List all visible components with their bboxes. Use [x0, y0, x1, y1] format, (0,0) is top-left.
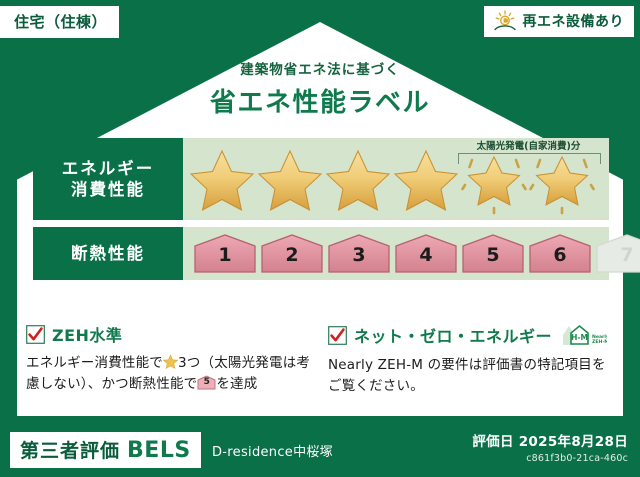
title-subtitle: 建築物省エネ法に基づく [0, 58, 640, 78]
notes-section: ZEH水準 エネルギー消費性能で3つ（太陽光発電は考慮しない）、かつ断熱性能で5… [26, 322, 616, 397]
insulation-level-4: 4 [394, 233, 458, 274]
inline-house-icon: 5 [197, 375, 216, 390]
note-zeh-body-prefix: エネルギー消費性能で [26, 355, 163, 371]
insulation-performance-row: 断熱性能 1 2 3 [33, 227, 609, 280]
energy-performance-label: 住宅（住棟） 再エネ設備あり 建築物省エネ法に基づく 省エネ性能ラベル エネルギ… [0, 0, 640, 477]
insulation-label: 断熱性能 [71, 243, 145, 264]
check-icon [328, 326, 347, 345]
bels-badge: 第三者評価 BELS [10, 432, 201, 468]
insulation-level-1-number: 1 [193, 244, 257, 266]
insulation-levels-area: 1 2 3 4 5 [183, 227, 640, 280]
note-zeh-body-suffix: を達成 [216, 376, 257, 392]
note-zeh-standard: ZEH水準 エネルギー消費性能で3つ（太陽光発電は考慮しない）、かつ断熱性能で5… [26, 322, 314, 397]
note-zeh-title: ZEH水準 [52, 322, 122, 346]
note-zeh-body: エネルギー消費性能で3つ（太陽光発電は考慮しない）、かつ断熱性能で5を達成 [26, 353, 314, 395]
bels-jp-label: 第三者評価 [20, 436, 120, 463]
energy-label-line1: エネルギー [62, 158, 155, 179]
star-icon-4 [393, 145, 459, 215]
title-main: 省エネ性能ラベル [0, 82, 640, 119]
insulation-level-6-number: 6 [528, 244, 592, 266]
energy-performance-label-box: エネルギー 消費性能 [33, 138, 183, 220]
star-icon-2 [257, 145, 323, 215]
category-tag: 住宅（住棟） [0, 6, 119, 38]
insulation-level-2-number: 2 [260, 244, 324, 266]
star-icon-1 [189, 145, 255, 215]
energy-label-line2: 消費性能 [71, 179, 145, 200]
note-nze-title: ネット・ゼロ・エネルギー [354, 323, 552, 347]
note-nze-body: Nearly ZEH-M の要件は評価書の特記項目をご覧ください。 [328, 355, 616, 397]
svg-text:H-M: H-M [571, 333, 588, 342]
performance-panel: エネルギー 消費性能 太陽光発電(自家消費)分 [33, 138, 609, 287]
star-icon-solar-6 [529, 145, 595, 215]
label-title: 建築物省エネ法に基づく 省エネ性能ラベル [0, 58, 640, 119]
insulation-level-1: 1 [193, 233, 257, 274]
star-rating [183, 138, 609, 220]
insulation-level-6: 6 [528, 233, 592, 274]
insulation-level-3-number: 3 [327, 244, 391, 266]
star-icon-solar-5 [461, 145, 527, 215]
star-icon-3 [325, 145, 391, 215]
insulation-level-4-number: 4 [394, 244, 458, 266]
note-net-zero-energy: ネット・ゼロ・エネルギー H-M Nearly ZEH-M Nearly ZEH… [328, 322, 616, 397]
insulation-level-5-number: 5 [461, 244, 525, 266]
note-nze-header: ネット・ゼロ・エネルギー H-M Nearly ZEH-M [328, 322, 616, 348]
building-name: D-residence中桜塚 [212, 441, 333, 460]
energy-stars-area: 太陽光発電(自家消費)分 [183, 138, 609, 220]
inline-house-value: 5 [197, 376, 216, 390]
insulation-level-3: 3 [327, 233, 391, 274]
insulation-level-list: 1 2 3 4 5 [183, 227, 640, 280]
renewable-equipment-badge: 再エネ設備あり [484, 6, 635, 37]
insulation-level-7-number: 7 [595, 244, 640, 266]
footer: 第三者評価 BELS D-residence中桜塚 評価日 2025年8月28日… [0, 421, 640, 477]
evaluation-id: c861f3b0-21ca-460c [472, 453, 628, 464]
note-zeh-header: ZEH水準 [26, 322, 314, 346]
insulation-level-2: 2 [260, 233, 324, 274]
check-icon [26, 325, 45, 344]
nearly-zeh-m-logo-icon: H-M Nearly ZEH-M [561, 322, 607, 348]
insulation-performance-label-box: 断熱性能 [33, 227, 183, 280]
inline-star-icon [163, 354, 178, 369]
insulation-level-5: 5 [461, 233, 525, 274]
energy-performance-row: エネルギー 消費性能 太陽光発電(自家消費)分 [33, 138, 609, 220]
renewable-badge-label: 再エネ設備あり [523, 11, 625, 31]
evaluation-info: 評価日 2025年8月28日 c861f3b0-21ca-460c [472, 430, 628, 464]
svg-text:ZEH-M: ZEH-M [592, 339, 607, 345]
sun-icon [492, 10, 518, 32]
evaluation-date: 評価日 2025年8月28日 [472, 430, 628, 450]
insulation-level-7: 7 [595, 233, 640, 274]
bels-en-label: BELS [127, 438, 191, 463]
